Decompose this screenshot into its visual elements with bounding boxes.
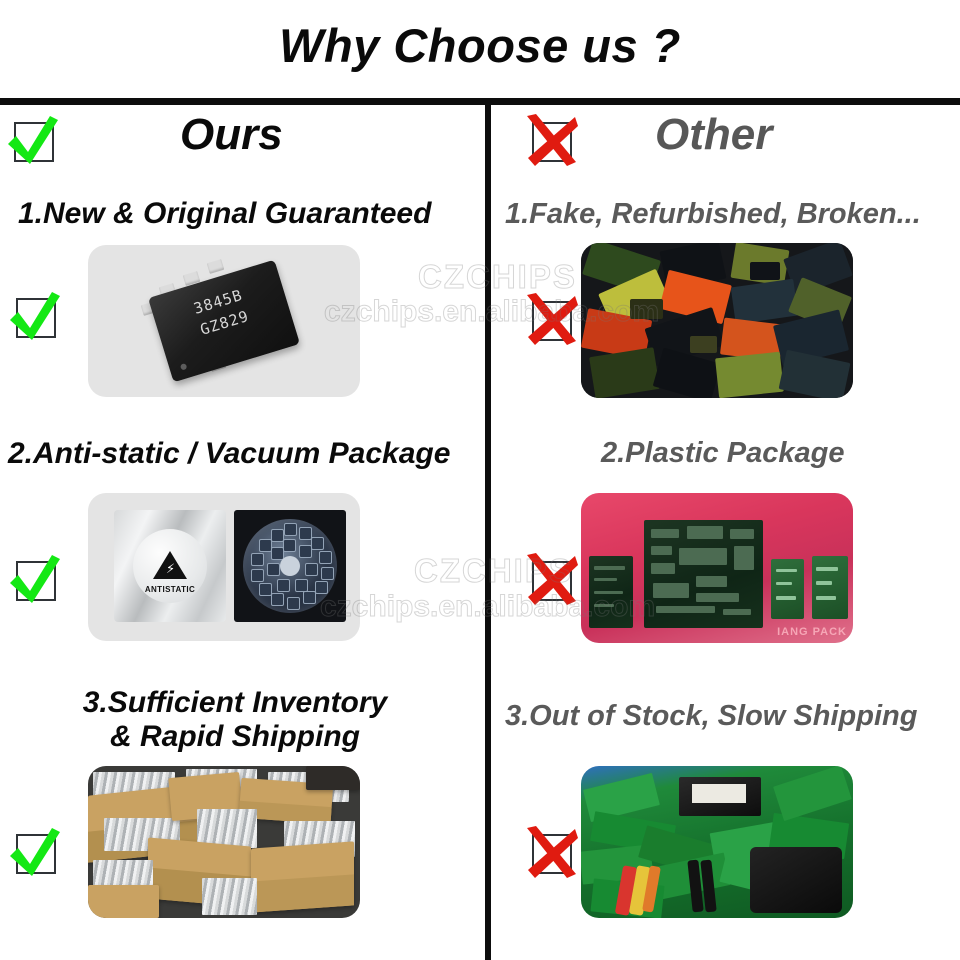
feature-other-2: 2.Plastic Package (491, 425, 960, 670)
cross-icon (524, 114, 578, 168)
antistatic-bag-and-reel-photo: ⚡ ANTISTATIC (88, 493, 360, 641)
feature-ours-3: 3.Sufficient Inventory & Rapid Shipping (0, 678, 485, 960)
pink-plastic-bag-pcb-photo: IANG PACK (581, 493, 853, 643)
check-icon (8, 290, 62, 344)
feature-other-1-text: 1.Fake, Refurbished, Broken... (505, 198, 960, 230)
black-enclosure (750, 847, 842, 914)
green-ewaste-scrap-photo (581, 766, 853, 918)
check-icon (8, 826, 62, 880)
feature-other-3: 3.Out of Stock, Slow Shipping (491, 678, 960, 960)
page-title: Why Choose us ? (0, 18, 960, 73)
cross-icon (524, 826, 578, 880)
feature-other-3-text: 3.Out of Stock, Slow Shipping (505, 700, 960, 732)
column-title-ours: Ours (180, 110, 283, 160)
column-header-ours: Ours (0, 110, 485, 176)
feature-ours-2: 2.Anti-static / Vacuum Package ⚡ ANTISTA… (0, 425, 485, 670)
chip-body: 3845BGZ829 (148, 260, 300, 383)
tape-reel (243, 519, 337, 613)
reel-tray (234, 510, 346, 622)
feature-ours-1: 1.New & Original Guaranteed 3845BGZ829 (0, 185, 485, 420)
cross-icon (524, 293, 578, 347)
feature-ours-2-text: 2.Anti-static / Vacuum Package (8, 437, 478, 471)
black-module (679, 777, 761, 817)
bag-printed-text: IANG PACK (777, 626, 847, 638)
check-icon (6, 114, 60, 168)
feature-ours-3-text: 3.Sufficient Inventory & Rapid Shipping (0, 686, 470, 753)
cross-icon (524, 553, 578, 607)
antistatic-label-text: ANTISTATIC (133, 585, 207, 594)
header-divider (0, 98, 960, 105)
antistatic-label-disc: ⚡ ANTISTATIC (133, 529, 207, 603)
check-icon (8, 553, 62, 607)
antistatic-bag: ⚡ ANTISTATIC (114, 510, 226, 622)
feature-other-2-text: 2.Plastic Package (601, 437, 951, 469)
soic-chip-photo: 3845BGZ829 (88, 245, 360, 397)
reel-hub (280, 556, 300, 576)
column-title-other: Other (655, 110, 772, 160)
cartons-of-stock-photo (88, 766, 360, 918)
esd-warning-icon: ⚡ (153, 551, 187, 579)
scrap-chips-pile-photo (581, 243, 853, 398)
lightning-bolt-glyph: ⚡ (166, 561, 174, 576)
feature-other-1: 1.Fake, Refurbished, Broken... (491, 185, 960, 420)
feature-ours-1-text: 1.New & Original Guaranteed (18, 197, 478, 231)
chip-pin1-dot (180, 363, 187, 370)
column-header-other: Other (491, 110, 960, 176)
why-choose-us-infographic: Why Choose us ? Ours Other 1.New & Origi… (0, 0, 960, 960)
